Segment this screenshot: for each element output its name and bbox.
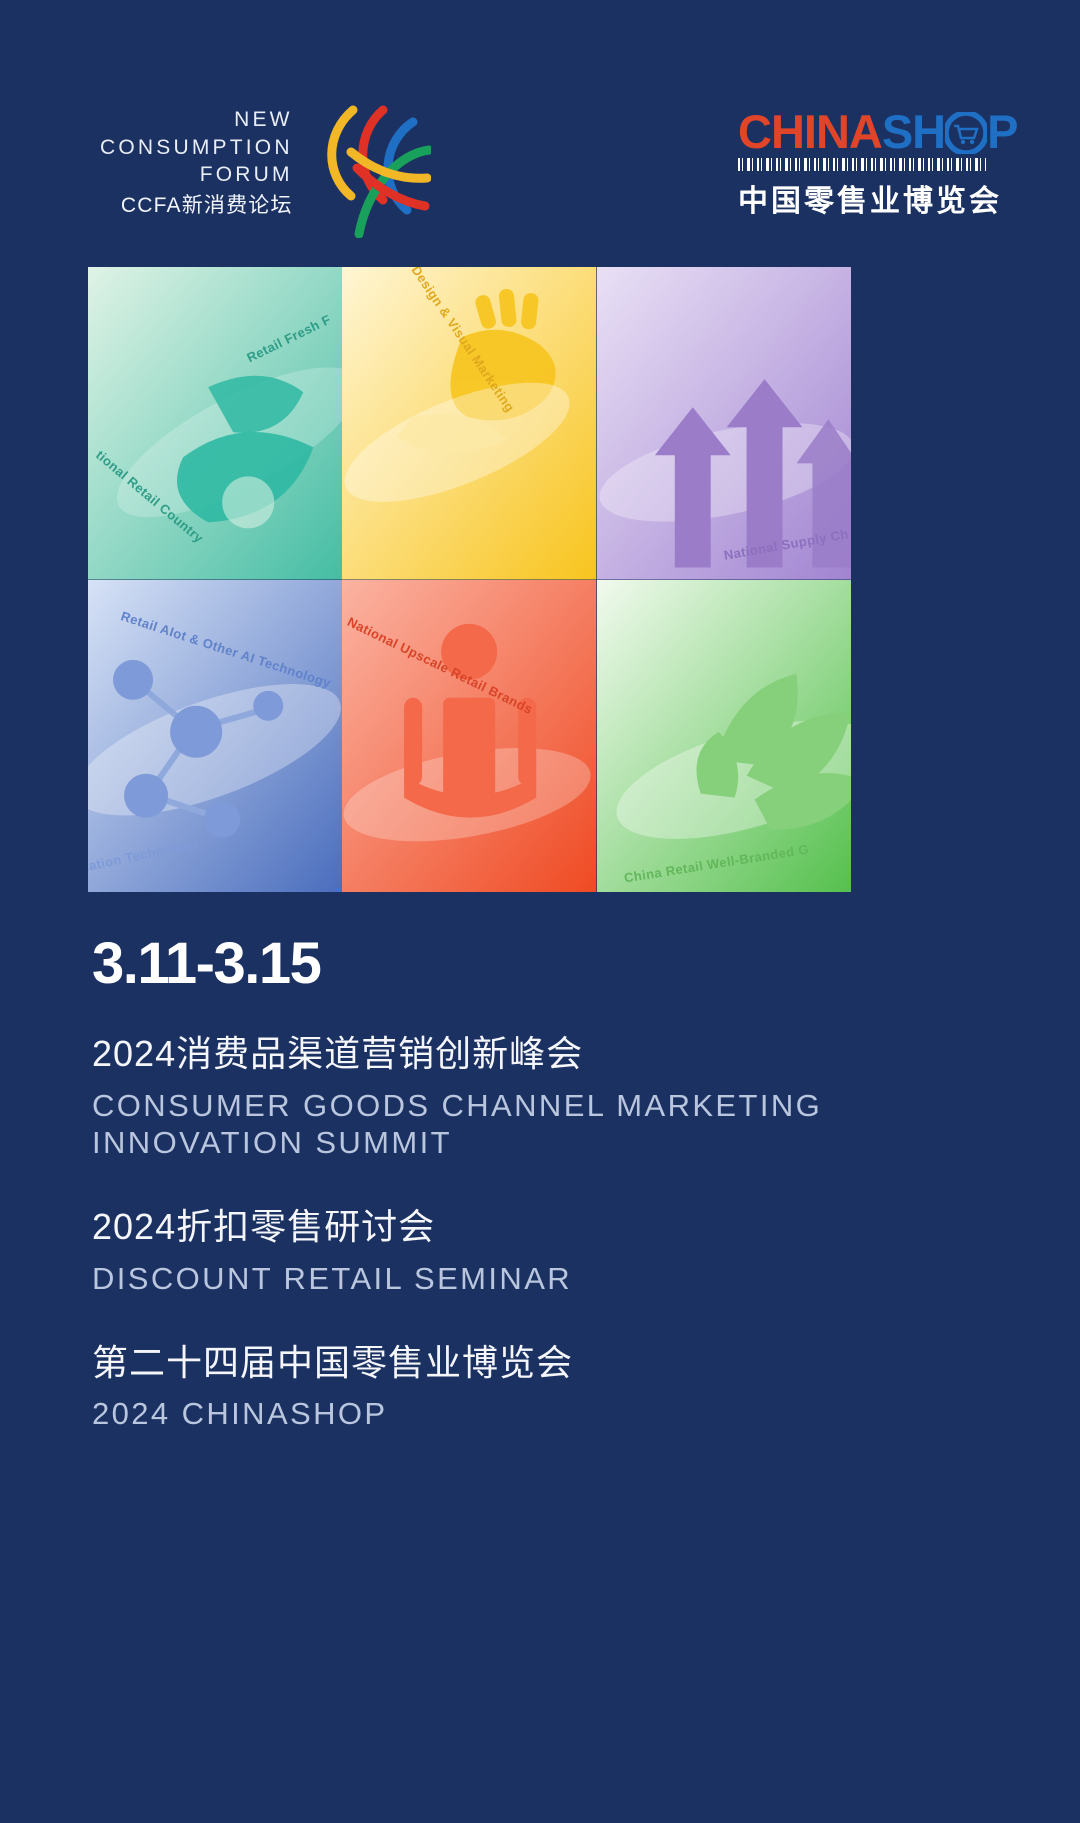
chinashop-sh-text: SH bbox=[882, 105, 945, 158]
event-item: 第二十四届中国零售业博览会 2024 CHINASHOP bbox=[92, 1339, 972, 1433]
ncf-wordmark: NEW CONSUMPTION FORUM CCFA新消费论坛 bbox=[100, 106, 293, 219]
event-dates: 3.11-3.15 bbox=[92, 930, 320, 997]
event-item: 2024消费品渠道营销创新峰会 CONSUMER GOODS CHANNEL M… bbox=[92, 1030, 972, 1161]
event-title-cn: 2024折扣零售研讨会 bbox=[92, 1203, 972, 1252]
ncf-swoosh-mark bbox=[311, 88, 431, 238]
panel-china-retail-well-branded[interactable]: China Retail Well-Branded G bbox=[597, 580, 851, 893]
panel-store-design-visual-marketing[interactable]: Store Design & Visual Marketing bbox=[342, 267, 596, 580]
poster-root: NEW CONSUMPTION FORUM CCFA新消费论坛 CHINASHP bbox=[0, 0, 1080, 1823]
event-title-cn: 2024消费品渠道营销创新峰会 bbox=[92, 1030, 972, 1079]
poster-header: NEW CONSUMPTION FORUM CCFA新消费论坛 CHINASHP bbox=[0, 0, 1080, 250]
ncf-line-new: NEW bbox=[100, 106, 293, 133]
panel-national-upscale-retail-brands[interactable]: National Upscale Retail Brands bbox=[342, 580, 596, 893]
chinashop-p-text: P bbox=[987, 105, 1017, 158]
event-title-en: 2024 CHINASHOP bbox=[92, 1395, 972, 1432]
event-title-cn: 第二十四届中国零售业博览会 bbox=[92, 1339, 972, 1388]
barcode-icon bbox=[738, 158, 986, 171]
new-consumption-forum-logo: NEW CONSUMPTION FORUM CCFA新消费论坛 bbox=[100, 88, 431, 238]
ncf-line-chinese: CCFA新消费论坛 bbox=[100, 192, 293, 219]
event-title-en: DISCOUNT RETAIL SEMINAR bbox=[92, 1260, 972, 1297]
chinashop-wordmark: CHINASHP bbox=[738, 108, 988, 155]
event-title-en: CONSUMER GOODS CHANNEL MARKETING INNOVAT… bbox=[92, 1087, 972, 1161]
chinashop-china-text: CHINA bbox=[738, 105, 882, 158]
ncf-line-consumption: CONSUMPTION bbox=[100, 134, 293, 161]
theme-panel-grid: Retail Fresh F tional Retail Country Sto bbox=[88, 267, 851, 892]
panel-retail-fresh-food[interactable]: Retail Fresh F tional Retail Country bbox=[88, 267, 342, 580]
chinashop-chinese-text: 中国零售业博览会 bbox=[738, 176, 988, 220]
event-item: 2024折扣零售研讨会 DISCOUNT RETAIL SEMINAR bbox=[92, 1203, 972, 1297]
shopping-cart-icon bbox=[945, 112, 987, 154]
event-list: 2024消费品渠道营销创新峰会 CONSUMER GOODS CHANNEL M… bbox=[92, 1030, 972, 1475]
ncf-line-forum: FORUM bbox=[100, 161, 293, 188]
chinashop-logo: CHINASHP 中国零售业博览会 bbox=[738, 108, 988, 220]
panel-retail-aiot-information-technology[interactable]: Retail AIot & Other AI Technology mation… bbox=[88, 580, 342, 893]
panel-national-supply-chain[interactable]: National Supply Ch bbox=[597, 267, 851, 580]
